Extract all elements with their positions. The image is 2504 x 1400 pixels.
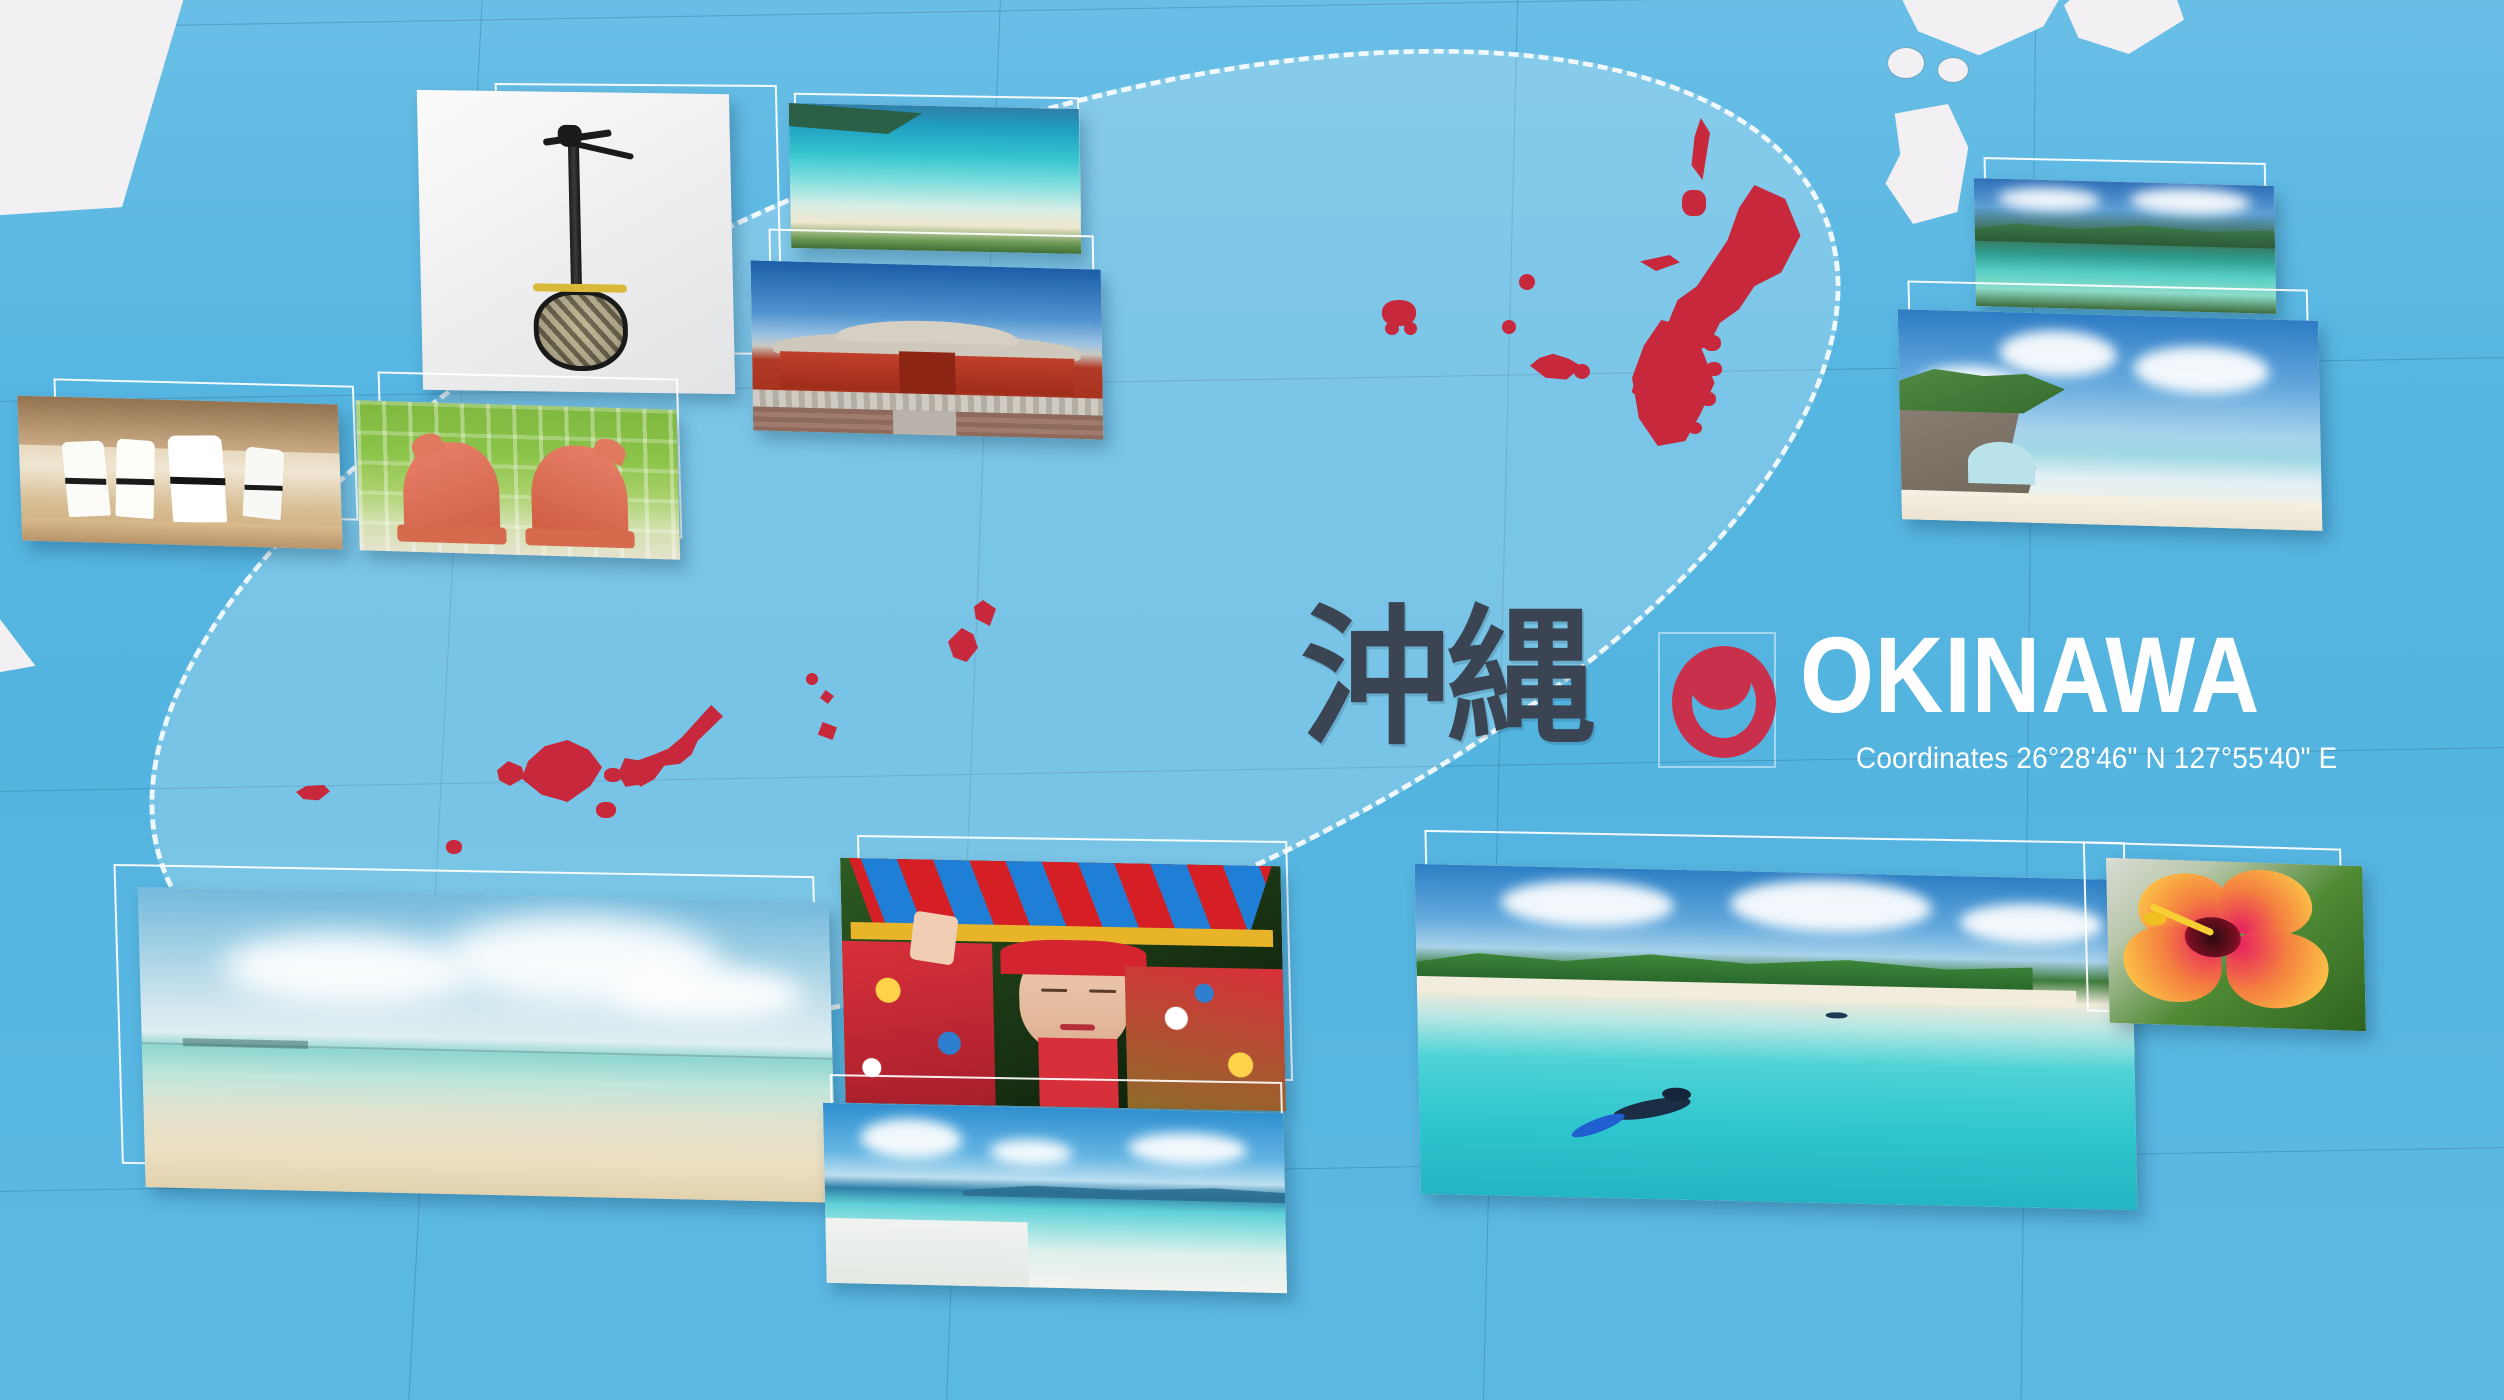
- island-kerama-1: [1385, 322, 1399, 335]
- photo-hibiscus[interactable]: [2106, 858, 2366, 1031]
- island-izena: [1682, 190, 1706, 216]
- island-hateruma: [446, 840, 462, 854]
- photo-coastline[interactable]: [1974, 178, 2277, 314]
- island-mid-small: [806, 673, 818, 685]
- photo-karate-dojo[interactable]: [17, 396, 343, 550]
- landmass-amami-3: [1938, 58, 1968, 82]
- wordmark-kanji: 沖縄: [1300, 604, 1592, 754]
- okinawa-wordmark: 沖縄 OKINAWA Coordinates 26°28'46" N 127°5…: [1300, 618, 2500, 803]
- photo-calm-beach[interactable]: [138, 887, 837, 1203]
- wordmark-latin: OKINAWA: [1800, 624, 2260, 726]
- photo-beach-aerial[interactable]: [789, 103, 1082, 254]
- photo-shisa[interactable]: [356, 400, 680, 559]
- island-tonaki: [1519, 274, 1535, 290]
- landmass-amami-2: [1888, 48, 1924, 78]
- island-kerama-2: [1404, 322, 1417, 335]
- island-kudaka: [1703, 335, 1721, 351]
- okinawa-map-board: 沖縄 OKINAWA Coordinates 26°28'46" N 127°5…: [0, 0, 2504, 1400]
- island-aguni: [1502, 320, 1516, 334]
- island-zamami: [1574, 364, 1590, 379]
- photo-ryukyu-dancer[interactable]: [840, 858, 1286, 1111]
- okinawa-prefecture-emblem-icon: [1672, 646, 1776, 758]
- island-minor-se: [1700, 392, 1716, 406]
- photo-rock-arch[interactable]: [1898, 309, 2323, 531]
- island-kumejima-minor: [1706, 362, 1722, 376]
- island-kitadaito: [1688, 422, 1702, 434]
- photo-shuri-castle[interactable]: [751, 260, 1104, 439]
- coordinates-label: Coordinates 26°28'46" N 127°55'40" E: [1856, 742, 2337, 776]
- photo-snorkeler[interactable]: [1415, 864, 2138, 1210]
- photo-sanshin[interactable]: [417, 90, 735, 394]
- photo-sandbar[interactable]: [823, 1103, 1287, 1293]
- island-tarama: [596, 802, 616, 818]
